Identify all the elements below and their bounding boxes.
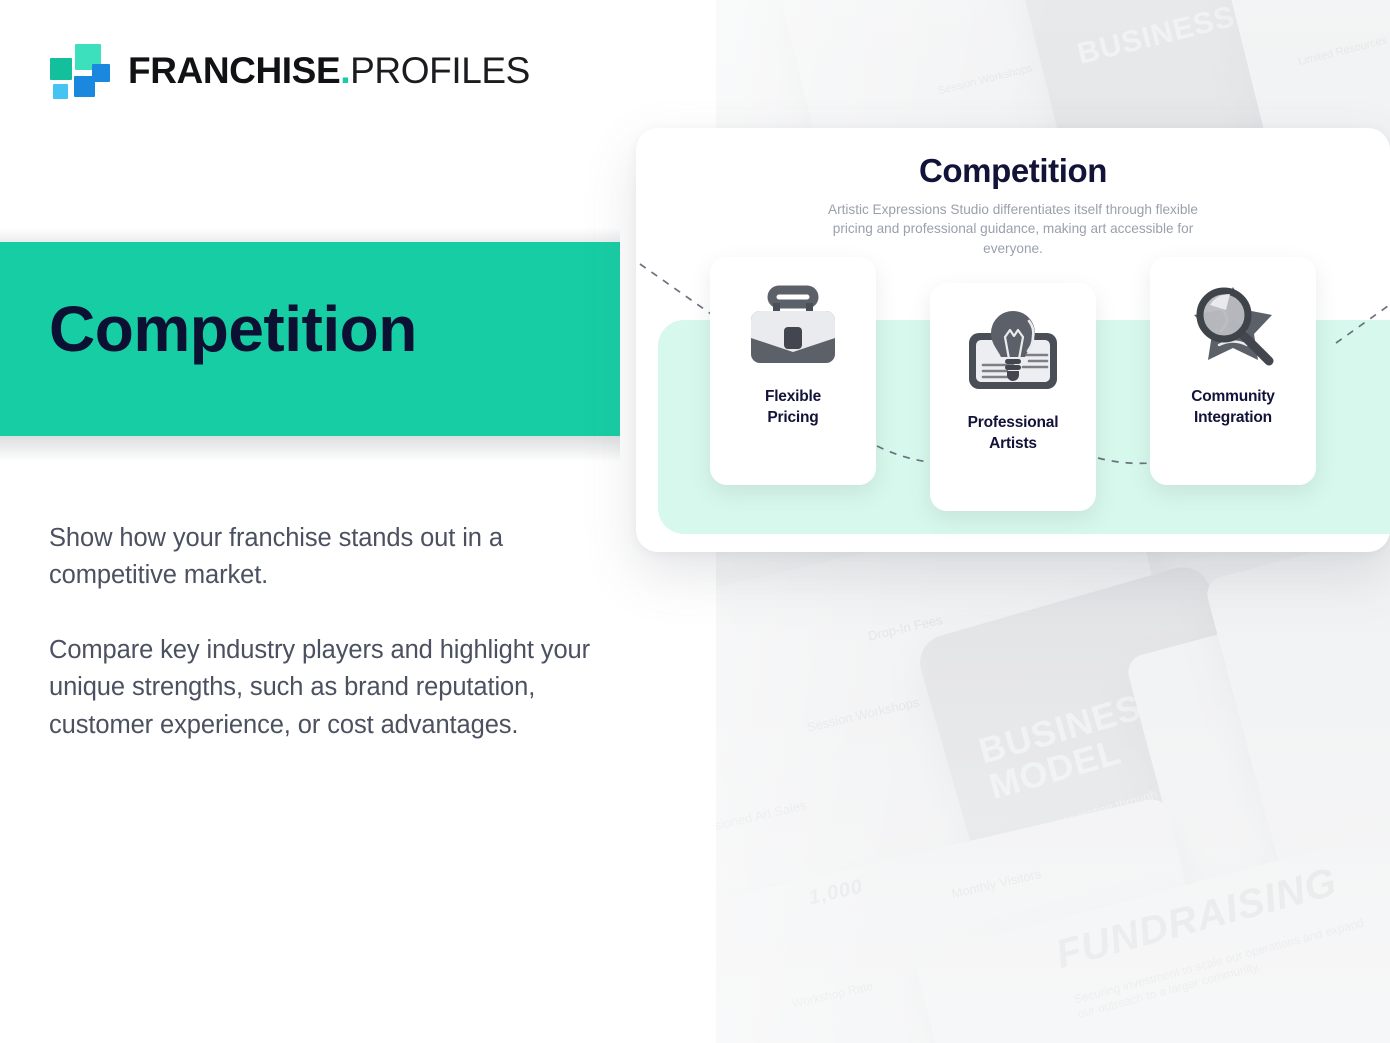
- briefcase-icon: [737, 279, 849, 379]
- description-paragraph-1: Show how your franchise stands out in a …: [49, 520, 619, 595]
- tile-flexible-pricing[interactable]: Flexible Pricing: [710, 257, 876, 485]
- brand-name-light: PROFILES: [350, 50, 530, 91]
- lightbulb-board-icon: [957, 305, 1069, 405]
- competition-preview-card[interactable]: Competition Artistic Expressions Studio …: [636, 128, 1390, 552]
- slide-canvas: Drop-In Fees Basket Worksheets Session W…: [0, 0, 1390, 1043]
- tile-label: Community Integration: [1191, 387, 1274, 428]
- description-block: Show how your franchise stands out in a …: [49, 520, 619, 744]
- squares-logo-icon: [48, 42, 110, 100]
- tile-label: Professional Artists: [968, 413, 1059, 454]
- brand-name-bold: FRANCHISE: [128, 50, 340, 91]
- tile-label: Flexible Pricing: [765, 387, 821, 428]
- magnifier-star-icon: [1177, 279, 1289, 379]
- brand-wordmark: FRANCHISE.PROFILES: [128, 50, 530, 92]
- band-bottom-shadow: [0, 436, 620, 462]
- section-heading-band: Competition: [0, 242, 620, 436]
- brand-logo: FRANCHISE.PROFILES: [48, 42, 530, 100]
- description-paragraph-2: Compare key industry players and highlig…: [49, 632, 619, 744]
- tile-professional-artists[interactable]: Professional Artists: [930, 283, 1096, 511]
- tiles-group: Flexible Pricing: [636, 128, 1390, 552]
- brand-name-dot: .: [340, 50, 350, 91]
- tile-community-integration[interactable]: Community Integration: [1150, 257, 1316, 485]
- page-title: Competition: [49, 292, 417, 366]
